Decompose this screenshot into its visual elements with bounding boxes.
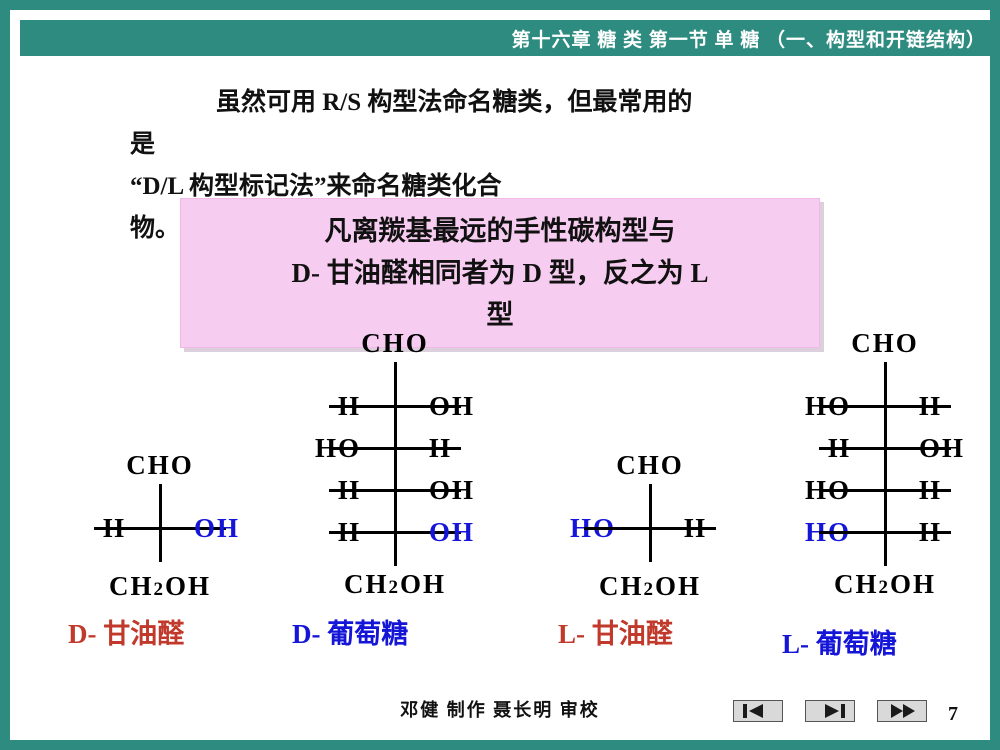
label-d-glucose: D- 葡萄糖 (292, 612, 408, 651)
structure-l-glyceraldehyde: CHO HO H CH2OH (540, 450, 760, 602)
fischer-row: HO H (770, 511, 1000, 553)
header-title: 第十六章 糖 类 第一节 单 糖 （一、构型和开链结构） (511, 25, 986, 52)
structure-bottom-label: CH2OH (540, 571, 760, 602)
slide-nav-buttons[interactable] (730, 698, 930, 724)
bottom-tail: OH (890, 569, 936, 599)
structure-d-glucose: CHO H OH HO H H OH H OH CH2OH (280, 328, 510, 600)
bottom-subscript: 2 (643, 579, 655, 600)
fischer-row: H OH (280, 385, 510, 427)
callout-line-2: D- 甘油醛相同者为 D 型，反之为 L (292, 252, 709, 294)
structure-bottom-label: CH2OH (280, 569, 510, 600)
row-right-label: H (429, 433, 452, 464)
row-right-label: OH (429, 517, 475, 548)
bottom-main: CH (109, 571, 154, 601)
structure-l-glucose: CHO HO H H OH HO H HO H CH2OH (770, 328, 1000, 600)
row-right-label: OH (429, 391, 475, 422)
bottom-subscript: 2 (878, 577, 890, 598)
fischer-row: H OH (280, 469, 510, 511)
row-right-label: H (919, 517, 942, 548)
row-right-label: OH (429, 475, 475, 506)
next-slide-button[interactable] (802, 699, 858, 723)
end-slide-button[interactable] (874, 699, 930, 723)
structure-top-label: CHO (50, 450, 270, 481)
fischer-row: H OH (280, 511, 510, 553)
fischer-row: HO H (540, 507, 760, 549)
row-right-label: OH (919, 433, 965, 464)
definition-callout: 凡离羰基最远的手性碳构型与 D- 甘油醛相同者为 D 型，反之为 L 型 (180, 198, 820, 348)
row-right-label: OH (194, 513, 240, 544)
structure-top-label: CHO (770, 328, 1000, 359)
callout-line-1: 凡离羰基最远的手性碳构型与 (325, 210, 676, 252)
bottom-main: CH (344, 569, 389, 599)
fischer-row: H OH (50, 507, 270, 549)
structure-bottom-label: CH2OH (50, 571, 270, 602)
bottom-tail: OH (165, 571, 211, 601)
label-l-glyceraldehyde: L- 甘油醛 (558, 612, 673, 651)
row-right-label: H (919, 391, 942, 422)
bottom-tail: OH (400, 569, 446, 599)
bottom-tail: OH (655, 571, 701, 601)
structure-top-label: CHO (540, 450, 760, 481)
row-right-label: H (684, 513, 707, 544)
previous-slide-button[interactable] (730, 699, 786, 723)
paragraph-line-1: 虽然可用 R/S 构型法命名糖类，但最常用的 (130, 82, 910, 124)
fischer-row: HO H (280, 427, 510, 469)
label-d-glyceraldehyde: D- 甘油醛 (68, 612, 184, 651)
page-number: 7 (948, 703, 958, 726)
paragraph-line-2: 是 (130, 124, 910, 166)
label-l-glucose: L- 葡萄糖 (782, 622, 897, 661)
bottom-subscript: 2 (388, 577, 400, 598)
fischer-row: H OH (770, 427, 1000, 469)
bottom-main: CH (599, 571, 644, 601)
bottom-main: CH (834, 569, 879, 599)
slide-frame: 第十六章 糖 类 第一节 单 糖 （一、构型和开链结构） 虽然可用 R/S 构型… (0, 0, 1000, 750)
bottom-subscript: 2 (153, 579, 165, 600)
fischer-row: HO H (770, 469, 1000, 511)
row-right-label: H (919, 475, 942, 506)
structure-top-label: CHO (280, 328, 510, 359)
slide-header: 第十六章 糖 类 第一节 单 糖 （一、构型和开链结构） (20, 20, 1000, 56)
structure-bottom-label: CH2OH (770, 569, 1000, 600)
fischer-row: HO H (770, 385, 1000, 427)
structure-d-glyceraldehyde: CHO H OH CH2OH (50, 450, 270, 602)
